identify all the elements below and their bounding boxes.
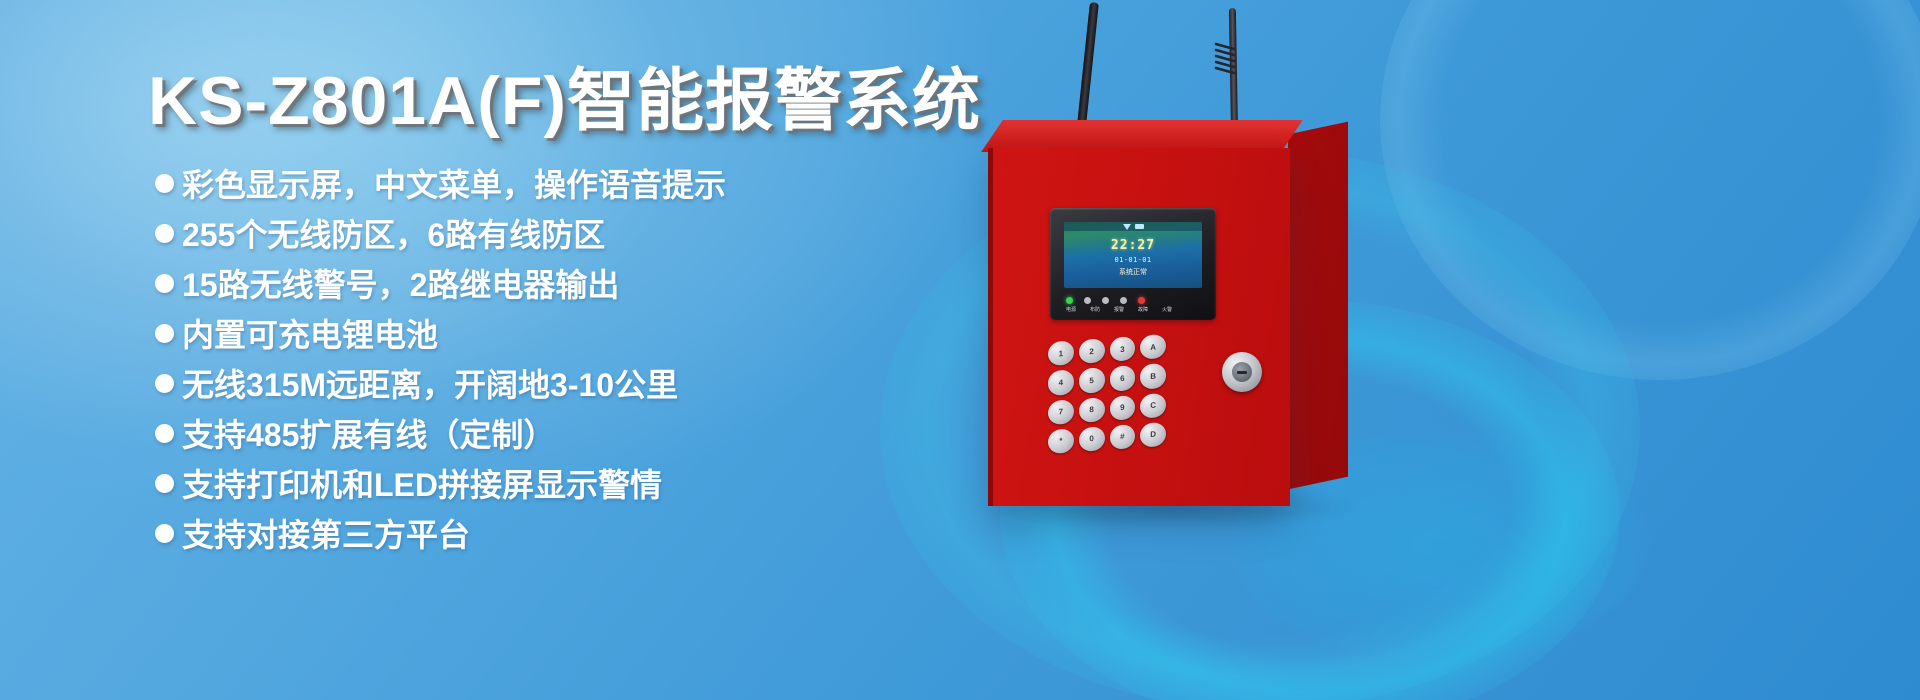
panel-left-edge [988, 148, 993, 506]
lcd-screen: 22:27 01-01-01 系统正常 [1064, 222, 1202, 288]
feature-text: 内置可充电锂电池 [182, 310, 438, 356]
filled-circle-bullet-icon [155, 274, 174, 293]
filled-circle-bullet-icon [155, 424, 174, 443]
led-label: 电源 [1062, 306, 1080, 313]
filled-circle-bullet-icon [155, 174, 174, 193]
keypad-key[interactable]: B [1140, 363, 1166, 389]
page-title: KS-Z801A(F)智能报警系统 [148, 58, 981, 144]
list-item: 15路无线警号，2路继电器输出 [155, 258, 726, 308]
list-item: 255个无线防区，6路有线防区 [155, 208, 726, 258]
filled-circle-bullet-icon [155, 524, 174, 543]
feature-text: 彩色显示屏，中文菜单，操作语音提示 [182, 160, 726, 206]
feature-text: 无线315M远距离，开阔地3-10公里 [182, 360, 678, 406]
list-item: 支持打印机和LED拼接屏显示警情 [155, 458, 726, 508]
battery-icon [1135, 224, 1144, 229]
keypad-key[interactable]: # [1110, 424, 1136, 450]
keypad-key[interactable]: A [1140, 334, 1166, 360]
banner-text-block: KS-Z801A(F)智能报警系统 彩色显示屏，中文菜单，操作语音提示 255个… [0, 0, 960, 700]
panel-right-face [1288, 122, 1348, 490]
lock-keyhole [1237, 371, 1247, 374]
keypad-key[interactable]: D [1140, 422, 1166, 448]
led-fault-icon [1120, 297, 1127, 304]
lcd-status-text: 系统正常 [1064, 267, 1202, 277]
filled-circle-bullet-icon [155, 224, 174, 243]
keypad-key[interactable]: 4 [1048, 370, 1074, 396]
keypad-key[interactable]: * [1048, 428, 1074, 454]
feature-text: 15路无线警号，2路继电器输出 [182, 260, 619, 306]
keypad-key[interactable]: 7 [1048, 399, 1074, 425]
led-label: 布防 [1086, 306, 1104, 313]
product-banner: KS-Z801A(F)智能报警系统 彩色显示屏，中文菜单，操作语音提示 255个… [0, 0, 1920, 700]
keypad-key[interactable]: 5 [1079, 367, 1105, 393]
led-label: 报警 [1110, 306, 1128, 313]
keypad[interactable]: 1 2 3 A 4 5 6 B 7 8 9 C * 0 # D [1048, 334, 1166, 454]
led-label: 故障 [1134, 306, 1152, 313]
list-item: 支持485扩展有线（定制） [155, 408, 726, 458]
keypad-key[interactable]: 0 [1079, 426, 1105, 452]
keypad-key[interactable]: 2 [1079, 338, 1105, 364]
feature-text: 支持打印机和LED拼接屏显示警情 [182, 460, 662, 506]
keypad-key[interactable]: 6 [1110, 365, 1136, 391]
keypad-key[interactable]: 8 [1079, 397, 1105, 423]
keypad-key[interactable]: 3 [1110, 336, 1136, 362]
key-lock-icon[interactable] [1222, 352, 1262, 392]
list-item: 彩色显示屏，中文菜单，操作语音提示 [155, 158, 726, 208]
list-item: 内置可充电锂电池 [155, 308, 726, 358]
signal-icon [1123, 224, 1131, 230]
feature-text: 255个无线防区，6路有线防区 [182, 210, 605, 256]
led-label: 火警 [1158, 306, 1176, 313]
filled-circle-bullet-icon [155, 374, 174, 393]
lcd-date-display: 01-01-01 [1064, 256, 1202, 264]
led-label-row: 电源 布防 报警 故障 火警 [1062, 306, 1208, 313]
keypad-key[interactable]: 9 [1110, 395, 1136, 421]
led-indicator-row [1066, 296, 1202, 305]
filled-circle-bullet-icon [155, 474, 174, 493]
keypad-key[interactable]: 1 [1048, 340, 1074, 366]
alarm-control-panel: 22:27 01-01-01 系统正常 电源 布防 报警 故障 火警 1 [930, 0, 1530, 700]
list-item: 支持对接第三方平台 [155, 508, 726, 558]
led-power-icon [1066, 297, 1073, 304]
lcd-status-bar [1064, 222, 1202, 231]
list-item: 无线315M远距离，开阔地3-10公里 [155, 358, 726, 408]
feature-text: 支持对接第三方平台 [182, 510, 470, 556]
filled-circle-bullet-icon [155, 324, 174, 343]
lcd-housing: 22:27 01-01-01 系统正常 电源 布防 报警 故障 火警 [1050, 208, 1216, 320]
led-alarm-icon [1102, 297, 1109, 304]
keypad-key[interactable]: C [1140, 392, 1166, 418]
panel-front-face [990, 148, 1290, 506]
feature-text: 支持485扩展有线（定制） [182, 410, 555, 456]
led-arm-icon [1084, 297, 1091, 304]
lcd-time-display: 22:27 [1064, 238, 1202, 253]
led-fire-icon [1138, 297, 1145, 304]
lock-core [1232, 362, 1252, 382]
feature-list: 彩色显示屏，中文菜单，操作语音提示 255个无线防区，6路有线防区 15路无线警… [155, 158, 726, 558]
antenna-coil-icon [1212, 40, 1238, 76]
